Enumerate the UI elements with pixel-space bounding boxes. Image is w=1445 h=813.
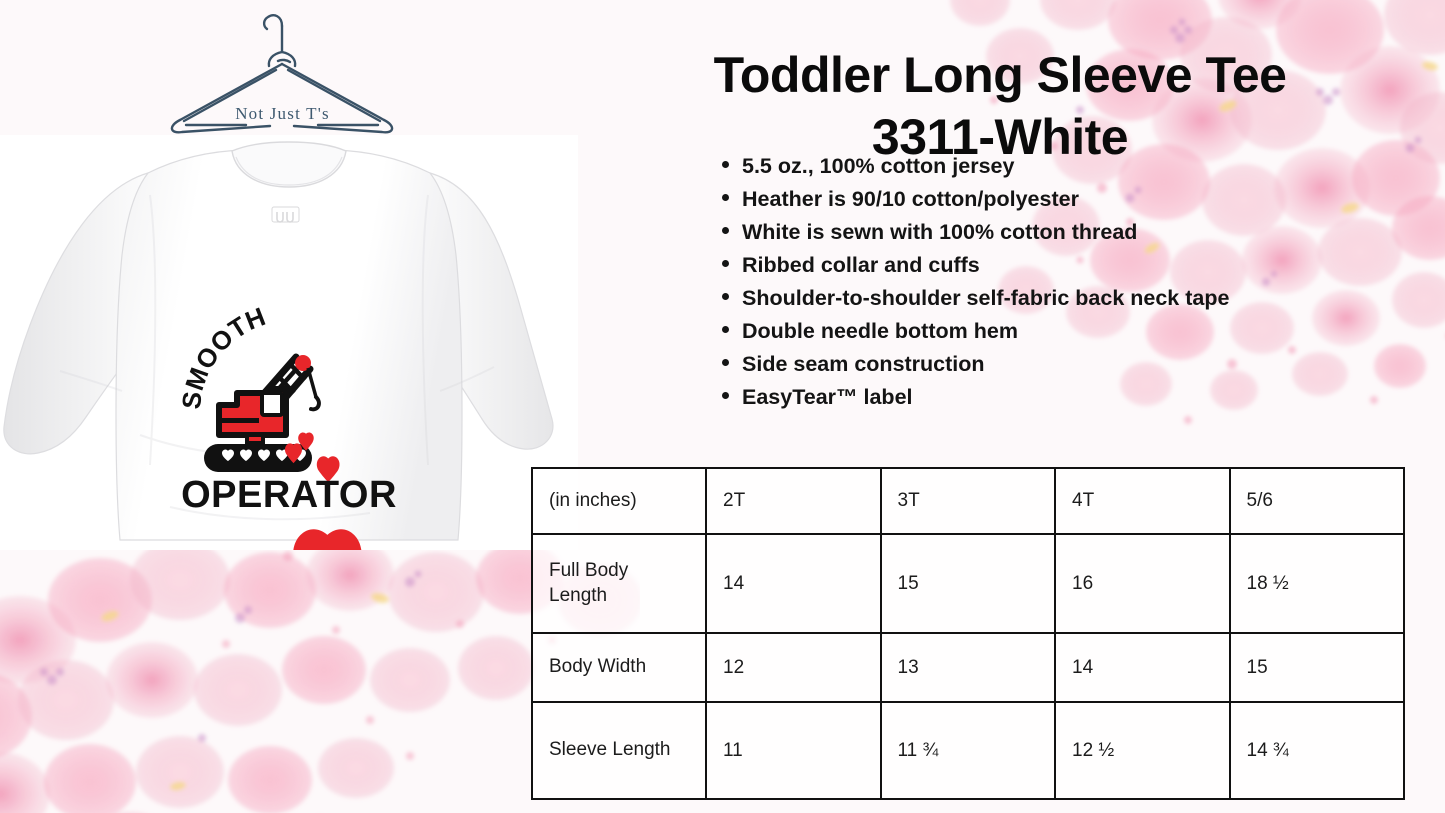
bullet-icon [722, 161, 729, 168]
table-cell: 14 [706, 534, 881, 633]
list-item: Heather is 90/10 cotton/polyester [718, 183, 1418, 216]
list-item: Ribbed collar and cuffs [718, 249, 1418, 282]
table-cell: 14 ¾ [1230, 702, 1405, 799]
table-cell: 14 [1055, 633, 1230, 702]
bullet-icon [722, 227, 729, 234]
feature-text: Side seam construction [742, 352, 985, 376]
table-header-cell: 4T [1055, 468, 1230, 534]
feature-text: Shoulder-to-shoulder self-fabric back ne… [742, 286, 1229, 310]
list-item: Double needle bottom hem [718, 315, 1418, 348]
table-cell: 16 [1055, 534, 1230, 633]
table-cell: 13 [881, 633, 1056, 702]
table-header-cell: 3T [881, 468, 1056, 534]
toddler-long-sleeve-tee-image: SMOOTH [0, 135, 578, 550]
table-header-cell: (in inches) [532, 468, 706, 534]
feature-text: 5.5 oz., 100% cotton jersey [742, 154, 1014, 178]
row-label: Sleeve Length [532, 702, 706, 799]
table-cell: 15 [881, 534, 1056, 633]
bullet-icon [722, 359, 729, 366]
bullet-icon [722, 260, 729, 267]
table-cell: 11 [706, 702, 881, 799]
table-header-cell: 5/6 [1230, 468, 1405, 534]
feature-text: Double needle bottom hem [742, 319, 1018, 343]
table-row: Full Body Length 14 15 16 18 ½ [532, 534, 1404, 633]
list-item: 5.5 oz., 100% cotton jersey [718, 150, 1418, 183]
feature-text: White is sewn with 100% cotton thread [742, 220, 1137, 244]
bullet-icon [722, 392, 729, 399]
product-features-list: 5.5 oz., 100% cotton jersey Heather is 9… [718, 150, 1418, 414]
table-cell: 12 [706, 633, 881, 702]
bullet-icon [722, 293, 729, 300]
svg-text:OPERATOR: OPERATOR [181, 474, 397, 516]
size-chart-table: (in inches) 2T 3T 4T 5/6 Full Body Lengt… [531, 467, 1405, 800]
table-header-row: (in inches) 2T 3T 4T 5/6 [532, 468, 1404, 534]
row-label: Body Width [532, 633, 706, 702]
list-item: Shoulder-to-shoulder self-fabric back ne… [718, 282, 1418, 315]
bullet-icon [722, 326, 729, 333]
row-label: Full Body Length [532, 534, 706, 633]
feature-text: EasyTear™ label [742, 385, 913, 409]
table-row: Body Width 12 13 14 15 [532, 633, 1404, 702]
bullet-icon [722, 194, 729, 201]
list-item: EasyTear™ label [718, 381, 1418, 414]
brand-logo: Not Just T's [150, 8, 415, 136]
product-photo: SMOOTH [0, 135, 578, 550]
list-item: Side seam construction [718, 348, 1418, 381]
table-cell: 11 ¾ [881, 702, 1056, 799]
feature-text: Heather is 90/10 cotton/polyester [742, 187, 1079, 211]
table-cell: 12 ½ [1055, 702, 1230, 799]
table-cell: 18 ½ [1230, 534, 1405, 633]
product-title-line1: Toddler Long Sleeve Tee [714, 47, 1287, 103]
page-title: Toddler Long Sleeve Tee 3311-White [600, 50, 1400, 162]
table-header-cell: 2T [706, 468, 881, 534]
table-row: Sleeve Length 11 11 ¾ 12 ½ 14 ¾ [532, 702, 1404, 799]
list-item: White is sewn with 100% cotton thread [718, 216, 1418, 249]
product-info-graphic: Not Just T's [0, 0, 1445, 813]
brand-logo-text: Not Just T's [150, 104, 415, 124]
table-cell: 15 [1230, 633, 1405, 702]
feature-text: Ribbed collar and cuffs [742, 253, 980, 277]
